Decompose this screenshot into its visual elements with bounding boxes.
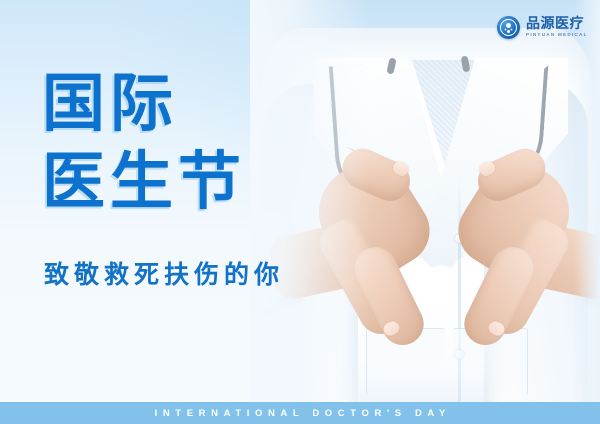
photo-left-fade [250,0,370,404]
page-title: 国际 医生节 [42,72,246,215]
title-line-2: 医生节 [42,150,246,215]
subtitle: 致敬救死扶伤的你 [44,255,284,291]
caduceus-circle-icon [497,16,520,39]
brand-logo-text: 品源医疗 PINYUAN MEDICAL [526,17,588,38]
title-line-1: 国际 [42,72,246,137]
brand-name-en: PINYUAN MEDICAL [526,33,588,38]
stethoscope-eartip-right [461,56,471,73]
poster-canvas: 品源医疗 PINYUAN MEDICAL 国际 医生节 致敬救死扶伤的你 INT… [0,0,600,424]
bottom-banner: INTERNATIONAL DOCTOR'S DAY [0,402,600,424]
hand-right [426,152,574,362]
banner-text: INTERNATIONAL DOCTOR'S DAY [149,408,451,419]
doctor-photo [250,0,600,404]
photo-right-fade [574,0,600,404]
brand-name-cn: 品源医疗 [526,17,588,31]
brand-logo[interactable]: 品源医疗 PINYUAN MEDICAL [497,16,588,39]
